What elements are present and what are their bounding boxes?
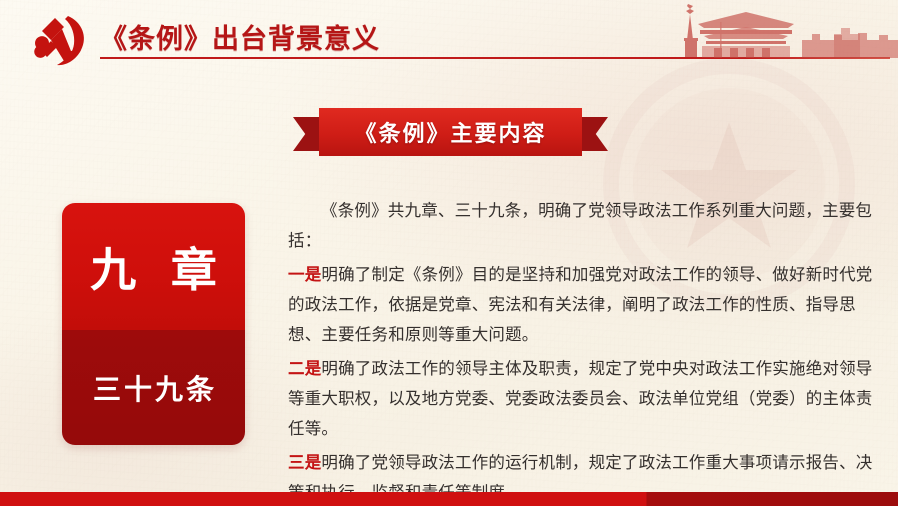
paragraph-text: 《条例》共九章、三十九条，明确了党领导政法工作系列重大问题，主要包括： (288, 202, 872, 250)
paragraph-lead: 一是 (288, 266, 321, 284)
paragraph-point-1: 一是明确了制定《条例》目的是坚持和加强党对政法工作的领导、做好新时代党的政法工作… (288, 260, 888, 350)
articles-count-label: 三十九条 (90, 368, 217, 408)
paragraph-lead: 二是 (288, 360, 321, 378)
paragraph-intro: 《条例》共九章、三十九条，明确了党领导政法工作系列重大问题，主要包括： (288, 196, 888, 256)
tiananmen-great-wall-skyline-icon (638, 0, 898, 60)
paragraph-lead: 三是 (288, 454, 321, 472)
paragraph-point-2: 二是明确了政法工作的领导主体及职责，规定了党中央对政法工作实施绝对领导等重大职权… (288, 354, 888, 444)
chapters-count-label: 九 章 (79, 234, 228, 300)
page-title: 《条例》出台背景意义 (100, 17, 380, 56)
slide-header: 《条例》出台背景意义 (0, 0, 898, 72)
body-copy: 《条例》共九章、三十九条，明确了党领导政法工作系列重大问题，主要包括： 一是明确… (288, 196, 888, 506)
hammer-sickle-emblem-icon (24, 10, 96, 72)
chapters-articles-card: 九 章 三十九条 (62, 203, 245, 445)
slide-canvas: 《条例》出台背景意义 (0, 0, 898, 506)
paragraph-text: 明确了制定《条例》目的是坚持和加强党对政法工作的领导、做好新时代党的政法工作，依… (288, 266, 873, 344)
paragraph-text: 明确了政法工作的领导主体及职责，规定了党中央对政法工作实施绝对领导等重大职权，以… (288, 360, 873, 438)
card-bottom-section: 三十九条 (62, 330, 245, 445)
section-ribbon-banner: 《条例》主要内容 (293, 108, 608, 156)
slide-bottom-bar (0, 492, 898, 506)
card-top-section: 九 章 (62, 203, 245, 330)
ribbon-body: 《条例》主要内容 (319, 108, 582, 156)
ribbon-title: 《条例》主要内容 (354, 116, 546, 148)
